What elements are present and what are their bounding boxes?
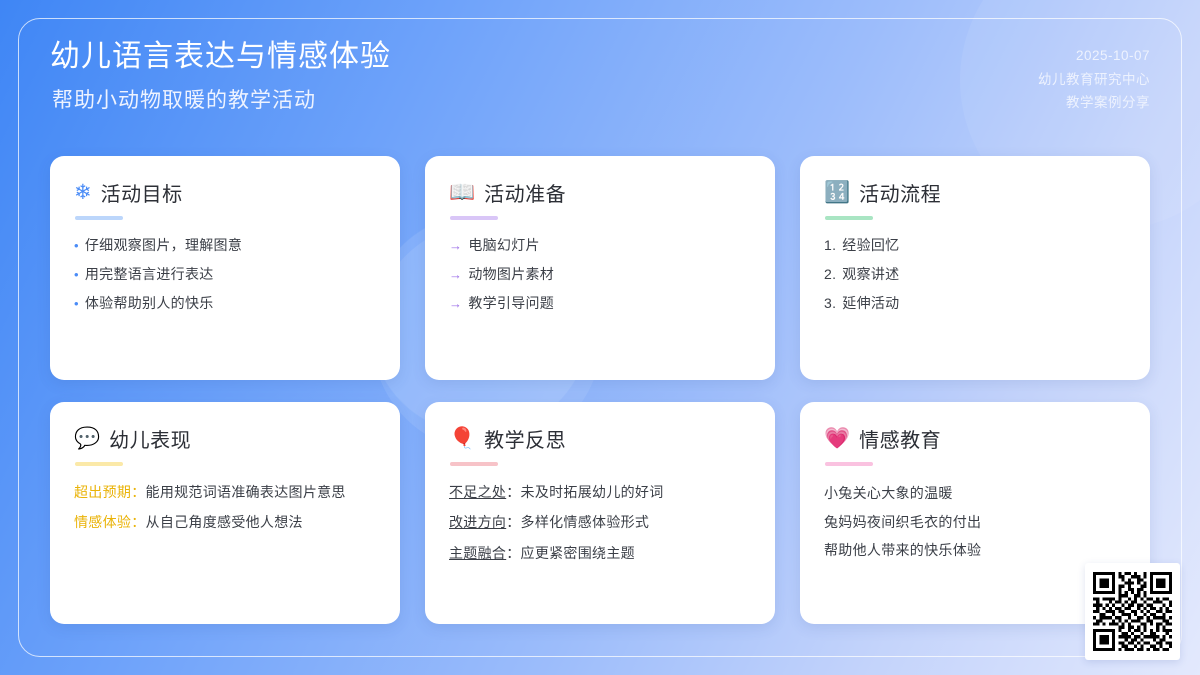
item-separator: ： xyxy=(131,514,145,530)
card-activity-process: 🔢活动流程1.经验回忆2.观察讲述3.延伸活动 xyxy=(800,156,1150,380)
list-marker: → xyxy=(449,265,462,285)
list-item: 1.经验回忆 xyxy=(824,235,1126,256)
card-title: 活动流程 xyxy=(859,178,941,207)
list-item: 情感体验：从自己角度感受他人想法 xyxy=(74,511,376,533)
card-header: 💗情感教育 xyxy=(824,424,1126,453)
card-title: 活动目标 xyxy=(101,178,183,207)
open-book-icon: 📖 xyxy=(449,182,475,203)
card-accent-rule xyxy=(825,462,873,466)
page-subtitle: 帮助小动物取暖的教学活动 xyxy=(50,84,1150,114)
meta-category: 教学案例分享 xyxy=(1038,91,1150,115)
card-grid: ❄活动目标•仔细观察图片，理解图意•用完整语言进行表达•体验帮助别人的快乐📖活动… xyxy=(50,156,1150,624)
list-marker: → xyxy=(449,236,462,256)
list-item: 2.观察讲述 xyxy=(824,264,1126,285)
card-accent-rule xyxy=(450,216,498,220)
heart-icon: 💗 xyxy=(824,428,850,449)
list-item: →教学引导问题 xyxy=(449,293,751,314)
card-accent-rule xyxy=(825,216,873,220)
card-body: •仔细观察图片，理解图意•用完整语言进行表达•体验帮助别人的快乐 xyxy=(74,235,376,314)
list-marker: • xyxy=(74,294,79,314)
item-separator: ： xyxy=(506,545,520,561)
snowflake-icon: ❄ xyxy=(74,182,92,203)
list-item: →电脑幻灯片 xyxy=(449,235,751,256)
item-label: 主题融合 xyxy=(449,545,506,561)
card-header: 🎈教学反思 xyxy=(449,424,751,453)
list-item: 兔妈妈夜间织毛衣的付出 xyxy=(824,510,1126,535)
card-child-performance: 💬幼儿表现超出预期：能用规范词语准确表达图片意思情感体验：从自己角度感受他人想法 xyxy=(50,402,400,624)
list-item: 不足之处：未及时拓展幼儿的好词 xyxy=(449,481,751,503)
page-title: 幼儿语言表达与情感体验 xyxy=(50,38,1150,76)
list-item: 3.延伸活动 xyxy=(824,293,1126,314)
item-label: 超出预期 xyxy=(74,484,131,500)
card-title: 情感教育 xyxy=(859,424,941,453)
card-activity-preparation: 📖活动准备→电脑幻灯片→动物图片素材→教学引导问题 xyxy=(425,156,775,380)
meta-date: 2025-10-07 xyxy=(1038,44,1150,68)
list-item: •体验帮助别人的快乐 xyxy=(74,293,376,314)
card-title: 幼儿表现 xyxy=(109,424,191,453)
list-item: 改进方向：多样化情感体验形式 xyxy=(449,511,751,533)
item-label: 情感体验 xyxy=(74,514,131,530)
card-header: 📖活动准备 xyxy=(449,178,751,207)
card-header: 🔢活动流程 xyxy=(824,178,1126,207)
list-item-text: 延伸活动 xyxy=(842,293,899,314)
card-accent-rule xyxy=(75,216,123,220)
list-item-text: 体验帮助别人的快乐 xyxy=(85,293,214,314)
item-value: 能用规范词语准确表达图片意思 xyxy=(146,484,346,500)
list-item-text: 观察讲述 xyxy=(842,264,899,285)
item-value: 未及时拓展幼儿的好词 xyxy=(521,484,664,500)
qr-code-panel[interactable] xyxy=(1085,563,1180,660)
card-body: 超出预期：能用规范词语准确表达图片意思情感体验：从自己角度感受他人想法 xyxy=(74,481,376,534)
item-label: 改进方向 xyxy=(449,514,506,530)
list-item: 超出预期：能用规范词语准确表达图片意思 xyxy=(74,481,376,503)
list-item-text: 教学引导问题 xyxy=(468,293,554,314)
card-body: 小兔关心大象的温暖兔妈妈夜间织毛衣的付出帮助他人带来的快乐体验 xyxy=(824,481,1126,563)
card-body: 1.经验回忆2.观察讲述3.延伸活动 xyxy=(824,235,1126,314)
list-item-text: 经验回忆 xyxy=(842,235,899,256)
list-item-text: 用完整语言进行表达 xyxy=(85,264,214,285)
list-item: 帮助他人带来的快乐体验 xyxy=(824,538,1126,563)
list-item: →动物图片素材 xyxy=(449,264,751,285)
card-header: 💬幼儿表现 xyxy=(74,424,376,453)
meta-organization: 幼儿教育研究中心 xyxy=(1038,68,1150,92)
card-body: →电脑幻灯片→动物图片素材→教学引导问题 xyxy=(449,235,751,314)
item-label: 不足之处 xyxy=(449,484,506,500)
list-item-text: 电脑幻灯片 xyxy=(468,235,540,256)
list-item: 小兔关心大象的温暖 xyxy=(824,481,1126,506)
speech-bubbles-icon: 💬 xyxy=(74,428,100,449)
slide-header: 幼儿语言表达与情感体验 帮助小动物取暖的教学活动 2025-10-07 幼儿教育… xyxy=(50,38,1150,133)
item-value: 多样化情感体验形式 xyxy=(521,514,650,530)
item-value: 应更紧密围绕主题 xyxy=(521,545,635,561)
card-title: 活动准备 xyxy=(484,178,566,207)
item-separator: ： xyxy=(506,484,520,500)
card-teaching-reflection: 🎈教学反思不足之处：未及时拓展幼儿的好词改进方向：多样化情感体验形式主题融合：应… xyxy=(425,402,775,624)
item-separator: ： xyxy=(506,514,520,530)
list-item: •仔细观察图片，理解图意 xyxy=(74,235,376,256)
qr-code[interactable] xyxy=(1093,572,1172,651)
list-item-text: 动物图片素材 xyxy=(468,264,554,285)
list-item: 主题融合：应更紧密围绕主题 xyxy=(449,542,751,564)
card-activity-goals: ❄活动目标•仔细观察图片，理解图意•用完整语言进行表达•体验帮助别人的快乐 xyxy=(50,156,400,380)
list-marker: • xyxy=(74,236,79,256)
list-marker: → xyxy=(449,294,462,314)
balloon-icon: 🎈 xyxy=(449,428,475,449)
numbered-list-icon: 🔢 xyxy=(824,182,850,203)
list-item: •用完整语言进行表达 xyxy=(74,264,376,285)
card-accent-rule xyxy=(450,462,498,466)
card-title: 教学反思 xyxy=(484,424,566,453)
list-marker: • xyxy=(74,265,79,285)
card-body: 不足之处：未及时拓展幼儿的好词改进方向：多样化情感体验形式主题融合：应更紧密围绕… xyxy=(449,481,751,564)
card-header: ❄活动目标 xyxy=(74,178,376,207)
item-separator: ： xyxy=(131,484,145,500)
item-value: 从自己角度感受他人想法 xyxy=(146,514,303,530)
list-marker: 2. xyxy=(824,264,836,285)
list-item-text: 仔细观察图片，理解图意 xyxy=(85,235,242,256)
card-accent-rule xyxy=(75,462,123,466)
list-marker: 3. xyxy=(824,293,836,314)
header-meta: 2025-10-07 幼儿教育研究中心 教学案例分享 xyxy=(1038,44,1150,115)
list-marker: 1. xyxy=(824,235,836,256)
